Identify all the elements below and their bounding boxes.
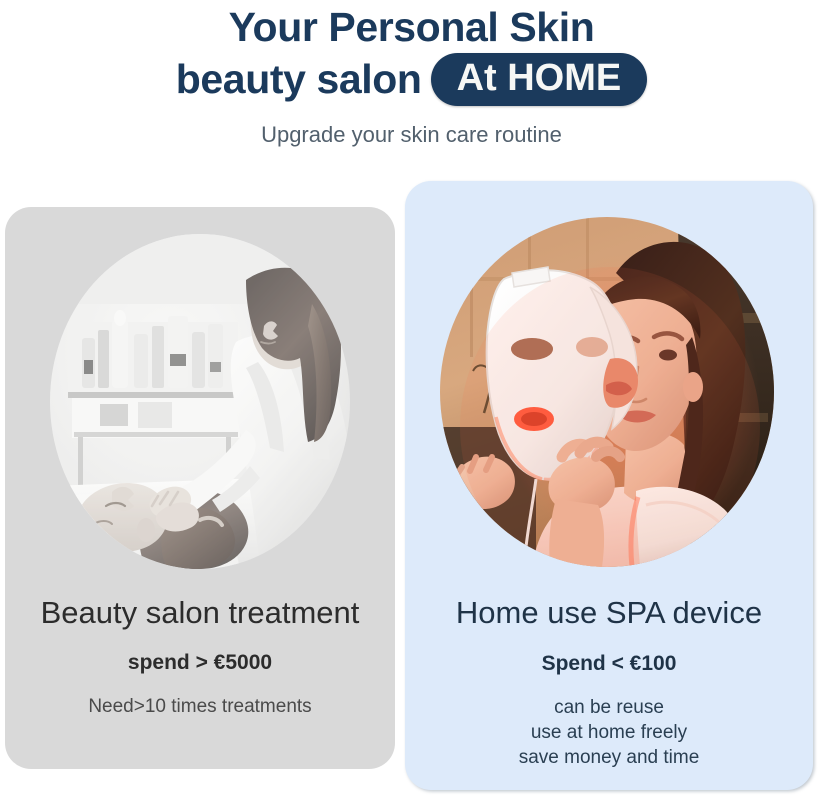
note-line: save money and time (405, 745, 813, 770)
home-spa-price: Spend < €100 (405, 651, 813, 676)
beauty-salon-treatment-photo (50, 234, 350, 569)
home-spa-title: Home use SPA device (405, 595, 813, 631)
note-line: use at home freely (405, 720, 813, 745)
headline-line-2-text: beauty salon (176, 56, 422, 103)
beauty-salon-title: Beauty salon treatment (5, 595, 395, 631)
home-spa-panel: Home use SPA device Spend < €100 can be … (405, 181, 813, 790)
beauty-salon-notes: Need>10 times treatments (5, 694, 395, 719)
beauty-salon-panel: Beauty salon treatment spend > €5000 Nee… (5, 207, 395, 769)
note-line: Need>10 times treatments (5, 694, 395, 719)
at-home-badge: At HOME (431, 53, 648, 106)
home-spa-led-mask-photo (440, 217, 774, 567)
headline-line-1: Your Personal Skin (0, 4, 823, 51)
promo-header: Your Personal Skin beauty salon At HOME … (0, 0, 823, 148)
promo-subtitle: Upgrade your skin care routine (0, 122, 823, 148)
note-line: can be reuse (405, 695, 813, 720)
home-spa-notes: can be reuse use at home freely save mon… (405, 695, 813, 770)
headline-line-2: beauty salon At HOME (0, 53, 823, 106)
beauty-salon-price: spend > €5000 (5, 650, 395, 675)
